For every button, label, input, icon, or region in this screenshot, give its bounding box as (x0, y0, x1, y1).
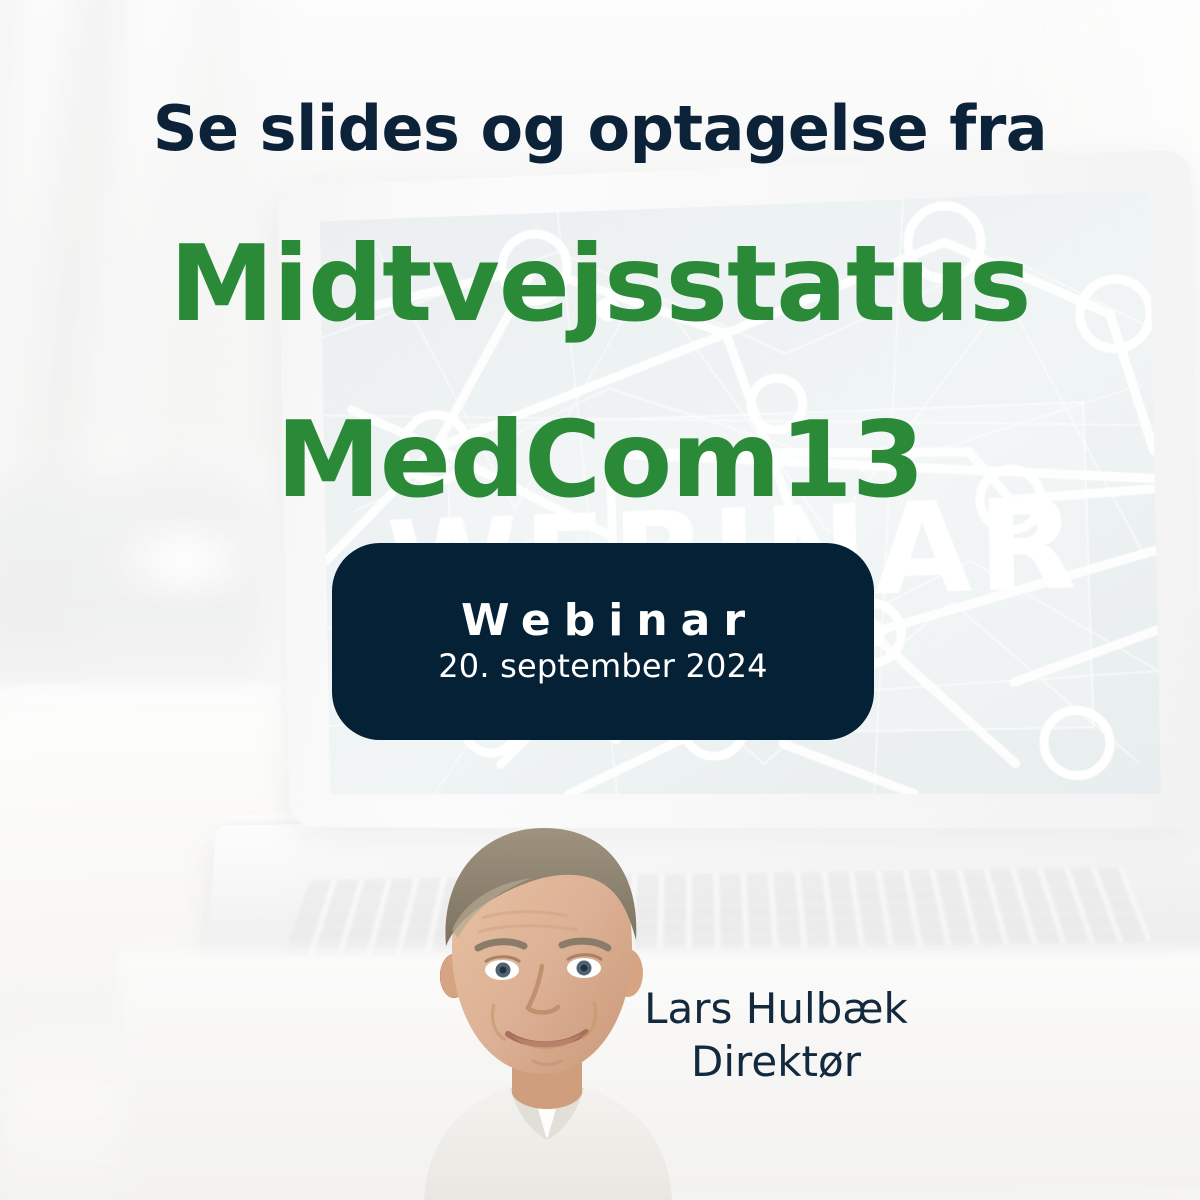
headline-line-1: Midtvejsstatus (170, 223, 1031, 345)
badge-date: 20. september 2024 (438, 649, 768, 684)
speaker-name: Lars Hulbæk (600, 984, 952, 1034)
speaker-role: Direktør (600, 1034, 952, 1091)
headline-line-2: MedCom13 (0, 372, 1200, 548)
promo-card: WEBINAR (0, 0, 1200, 1200)
headline-main: Midtvejsstatus MedCom13 (0, 196, 1200, 549)
headline-kicker: Se slides og optagelse fra (0, 96, 1200, 161)
speaker-caption: Lars Hulbæk Direktør (600, 984, 952, 1091)
webinar-badge: Webinar 20. september 2024 (332, 543, 874, 740)
badge-title: Webinar (448, 599, 758, 643)
